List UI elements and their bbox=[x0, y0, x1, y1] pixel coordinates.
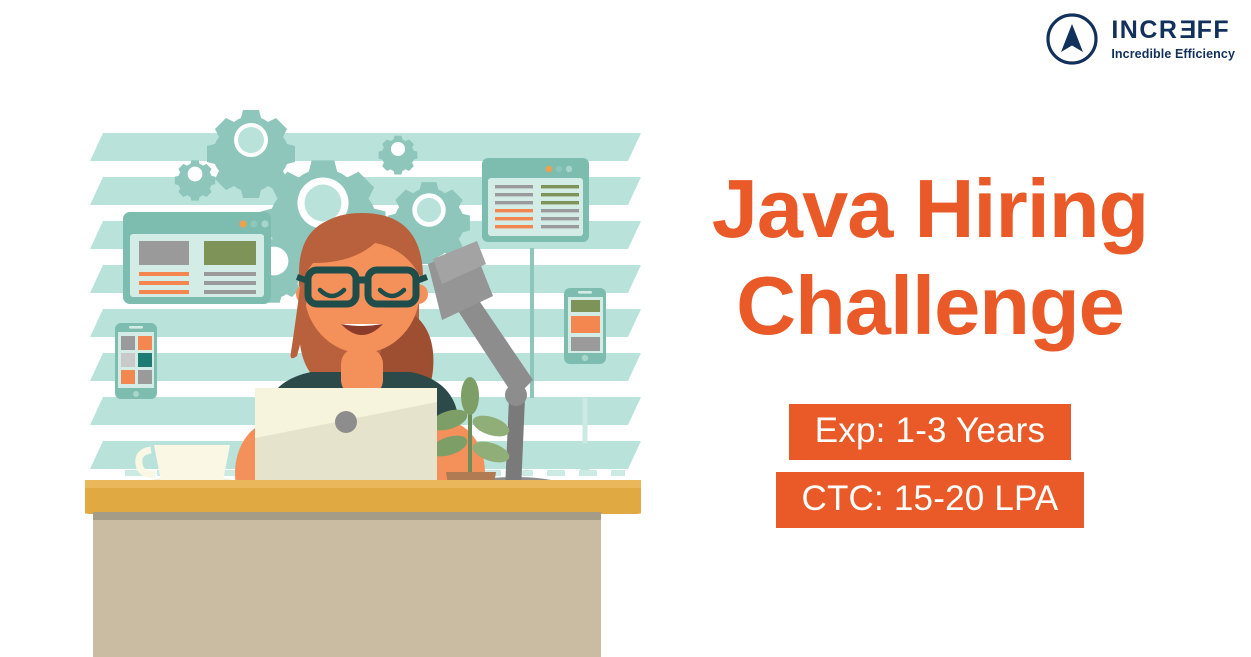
browser-card-right bbox=[482, 158, 589, 242]
browser-card-left bbox=[123, 212, 271, 304]
experience-badge: Exp: 1-3 Years bbox=[789, 404, 1071, 460]
increff-logo[interactable]: INCREFF Incredible Efficiency bbox=[1045, 12, 1235, 66]
navigation-arrow-circle-icon bbox=[1045, 12, 1099, 66]
title-line-1: Java Hiring bbox=[712, 162, 1148, 255]
logo-tagline: Incredible Efficiency bbox=[1111, 48, 1235, 61]
poster-canvas: INCREFF Incredible Efficiency Java Hirin… bbox=[0, 0, 1251, 657]
ctc-badge: CTC: 15-20 LPA bbox=[776, 472, 1085, 528]
mobile-phone-right bbox=[564, 288, 606, 364]
desk bbox=[85, 480, 641, 657]
woman-at-desk-illustration bbox=[85, 98, 641, 657]
job-detail-badges: Exp: 1-3 Years CTC: 15-20 LPA bbox=[660, 404, 1200, 528]
mobile-phone-left bbox=[115, 323, 157, 399]
page-title: Java Hiring Challenge bbox=[660, 160, 1200, 354]
logo-name: INCREFF bbox=[1111, 18, 1230, 43]
title-line-2: Challenge bbox=[660, 257, 1200, 354]
logo-wordmark: INCREFF Incredible Efficiency bbox=[1111, 18, 1235, 61]
